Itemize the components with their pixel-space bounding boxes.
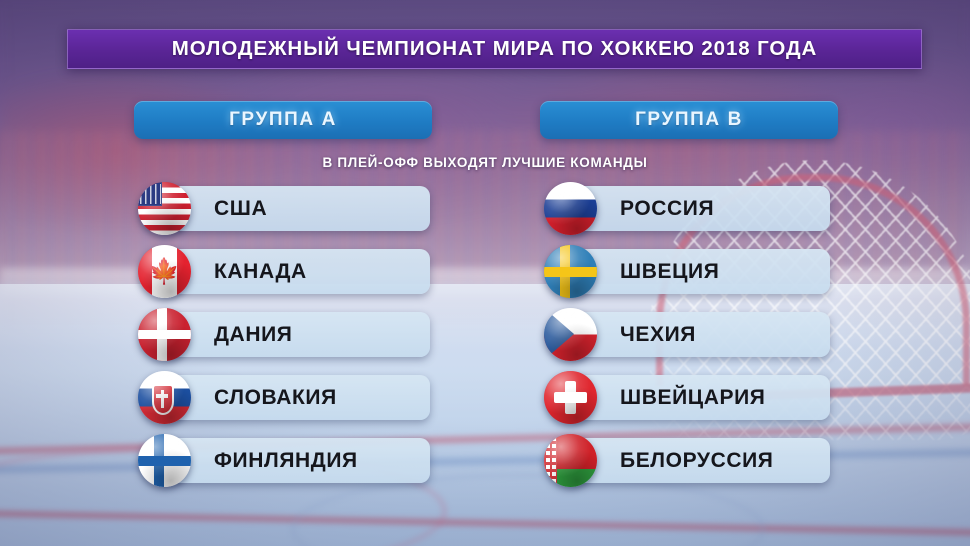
- team-name: ДАНИЯ: [214, 312, 292, 357]
- team-name: ФИНЛЯНДИЯ: [214, 438, 358, 483]
- team-name: ЧЕХИЯ: [620, 312, 696, 357]
- team-name: КАНАДА: [214, 249, 307, 294]
- team-pill: [161, 186, 430, 231]
- group-header-a[interactable]: ГРУППА А: [134, 101, 432, 139]
- team-pill: [567, 312, 830, 357]
- team-name: ШВЕЦИЯ: [620, 249, 719, 294]
- flag-sweden-icon: [544, 245, 597, 298]
- infographic-stage: МОЛОДЕЖНЫЙ ЧЕМПИОНАТ МИРА ПО ХОККЕЮ 2018…: [0, 0, 970, 546]
- flag-russia-icon: [544, 182, 597, 235]
- group-header-b-label: ГРУППА В: [635, 109, 743, 131]
- flag-slovakia-icon: [138, 371, 191, 424]
- team-name: БЕЛОРУССИЯ: [620, 438, 773, 483]
- team-name: СЛОВАКИЯ: [214, 375, 337, 420]
- playoff-note: В ПЛЕЙ-ОФФ ВЫХОДЯТ ЛУЧШИЕ КОМАНДЫ: [0, 155, 970, 170]
- flag-belarus-icon: [544, 434, 597, 487]
- team-name: ШВЕЙЦАРИЯ: [620, 375, 765, 420]
- team-name: США: [214, 186, 267, 231]
- flag-czech-icon: [544, 308, 597, 361]
- group-header-b[interactable]: ГРУППА В: [540, 101, 838, 139]
- flag-finland-icon: [138, 434, 191, 487]
- flag-denmark-icon: [138, 308, 191, 361]
- flag-switzerland-icon: [544, 371, 597, 424]
- group-header-a-label: ГРУППА А: [229, 109, 337, 131]
- flag-usa-icon: [138, 182, 191, 235]
- team-name: РОССИЯ: [620, 186, 714, 231]
- page-title: МОЛОДЕЖНЫЙ ЧЕМПИОНАТ МИРА ПО ХОККЕЮ 2018…: [172, 37, 817, 61]
- flag-canada-icon: 🍁: [138, 245, 191, 298]
- team-pill: [161, 312, 430, 357]
- page-title-bar: МОЛОДЕЖНЫЙ ЧЕМПИОНАТ МИРА ПО ХОККЕЮ 2018…: [67, 29, 922, 69]
